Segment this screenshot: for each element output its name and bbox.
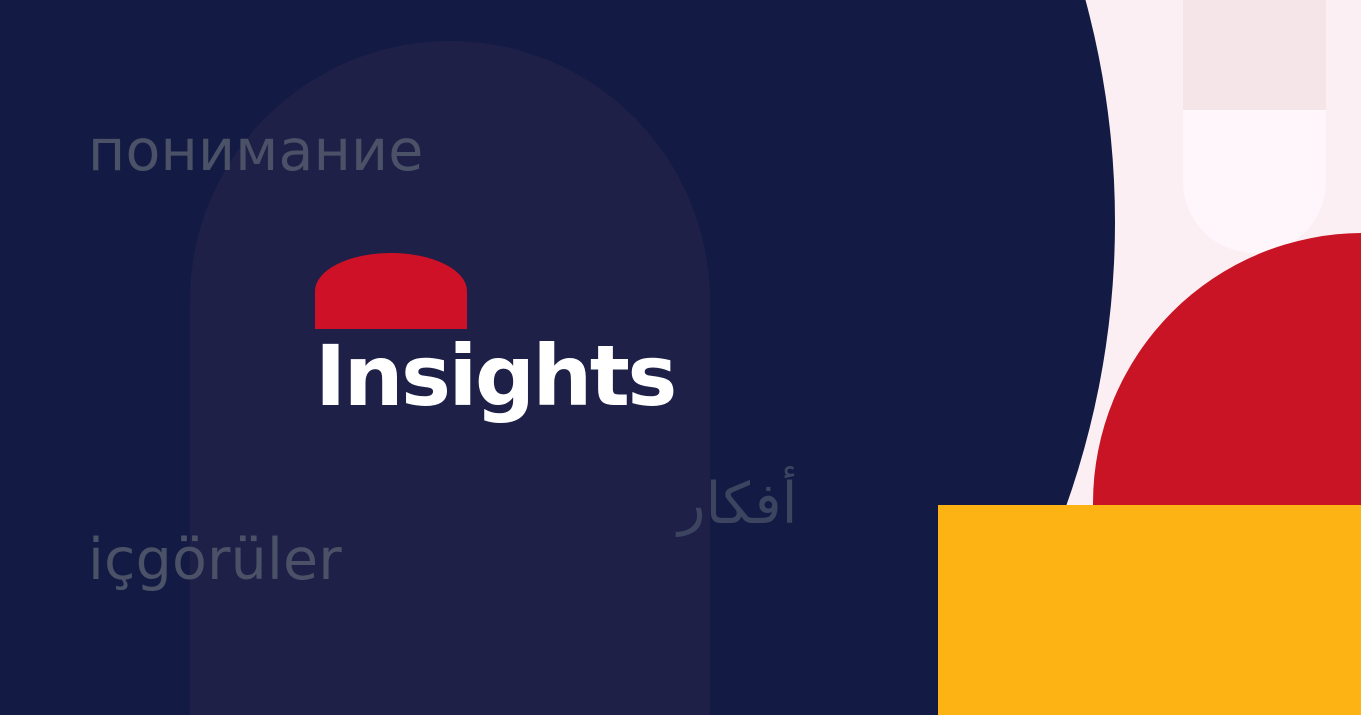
- translation-label-arabic: أفكار: [678, 471, 797, 537]
- insights-brand-canvas: понимание أفكار içgörüler Insights: [0, 0, 1361, 715]
- translation-label-russian: понимание: [88, 118, 424, 184]
- insights-logo: Insights: [315, 253, 719, 420]
- pink-light-halfdisc-shape: [1183, 110, 1326, 253]
- half-dome-icon: [315, 253, 467, 329]
- brand-wordmark: Insights: [315, 333, 719, 420]
- pink-tint-panel-shape: [1183, 0, 1326, 110]
- yellow-half-disc-shape: [938, 505, 1361, 715]
- translation-label-turkish: içgörüler: [88, 527, 342, 593]
